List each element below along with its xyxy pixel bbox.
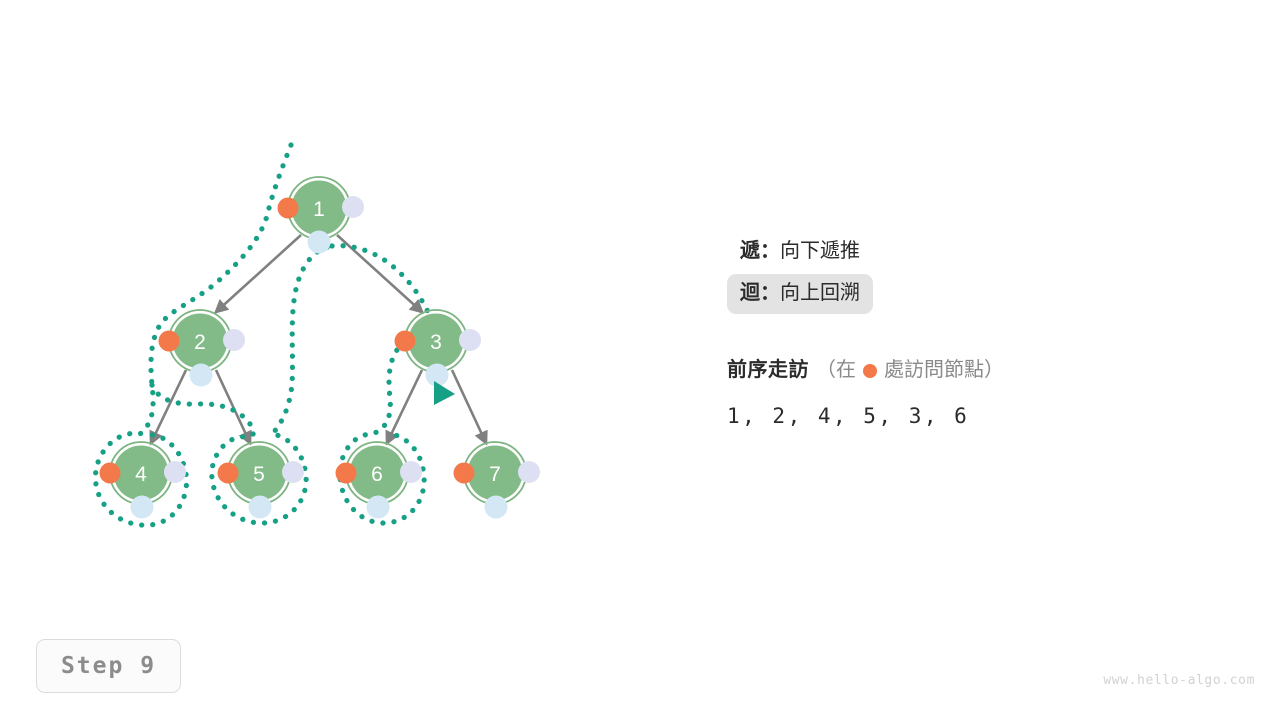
legend-row-recurse-wrap: 遞：向下遞推 — [727, 232, 1247, 274]
tree-node-6[interactable]: 6 — [336, 442, 423, 519]
node-7-post-dot — [485, 496, 508, 519]
traversal-paren-open: （在 — [816, 360, 856, 380]
node-1-label: 1 — [313, 198, 325, 221]
node-3-pre-dot — [395, 331, 416, 352]
node-2-post-dot — [190, 364, 213, 387]
node-4-in-dot — [164, 461, 186, 483]
node-5-pre-dot — [218, 463, 239, 484]
traversal-sequence: 1, 2, 4, 5, 3, 6 — [727, 404, 1247, 428]
legend-recurse-key: 遞： — [740, 240, 780, 262]
tree-node-1[interactable]: 1 — [278, 177, 365, 254]
node-1-in-dot — [342, 196, 364, 218]
node-5-label: 5 — [253, 463, 265, 486]
node-6-pre-dot — [336, 463, 357, 484]
node-4-label: 4 — [135, 463, 147, 486]
tree-node-5[interactable]: 5 — [218, 442, 305, 519]
edge-3-6 — [387, 370, 422, 443]
node-5-in-dot — [282, 461, 304, 483]
legend-backtrack-value: 向上回溯 — [780, 282, 860, 304]
node-6-in-dot — [400, 461, 422, 483]
node-6-label: 6 — [371, 463, 383, 486]
node-7-label: 7 — [489, 463, 501, 486]
node-4-post-dot — [131, 496, 154, 519]
legend-panel: 遞：向下遞推 迴：向上回溯 — [727, 232, 1247, 316]
step-badge: Step 9 — [36, 639, 181, 693]
node-2-label: 2 — [194, 331, 206, 354]
edge-2-4 — [151, 370, 186, 443]
tree-node-2[interactable]: 2 — [159, 310, 246, 387]
node-1-pre-dot — [278, 198, 299, 219]
tree-node-4[interactable]: 4 — [100, 442, 187, 519]
node-3-label: 3 — [430, 331, 442, 354]
legend-backtrack-key: 迴： — [740, 282, 780, 304]
node-3-in-dot — [459, 329, 481, 351]
node-1-post-dot — [308, 231, 331, 254]
preorder-marker-dot — [863, 364, 877, 378]
edge-3-7 — [452, 370, 486, 443]
node-6-post-dot — [367, 496, 390, 519]
node-7-in-dot — [518, 461, 540, 483]
legend-row-recurse: 遞：向下遞推 — [727, 232, 873, 272]
tree-svg: 1 2 3 — [0, 0, 660, 600]
site-watermark: www.hello-algo.com — [1103, 673, 1255, 688]
legend-row-backtrack-wrap: 迴：向上回溯 — [727, 274, 1247, 316]
step-badge-label: Step 9 — [61, 653, 156, 679]
current-position-pointer-icon — [434, 381, 455, 405]
node-2-in-dot — [223, 329, 245, 351]
node-4-pre-dot — [100, 463, 121, 484]
traversal-paren-close: 處訪問節點） — [884, 360, 1004, 380]
traversal-heading: 前序走訪 （在 處訪問節點） — [727, 360, 1247, 380]
tree-nodes: 1 2 3 — [100, 177, 541, 519]
tree-node-3[interactable]: 3 — [395, 310, 482, 387]
legend-recurse-value: 向下遞推 — [780, 240, 860, 262]
traversal-block: 前序走訪 （在 處訪問節點） 1, 2, 4, 5, 3, 6 — [727, 360, 1247, 428]
node-5-post-dot — [249, 496, 272, 519]
node-2-pre-dot — [159, 331, 180, 352]
traversal-title: 前序走訪 — [727, 360, 809, 380]
legend-row-backtrack: 迴：向上回溯 — [727, 274, 873, 314]
edge-1-3 — [337, 235, 422, 312]
node-7-pre-dot — [454, 463, 475, 484]
binary-tree-diagram: 1 2 3 — [0, 0, 660, 600]
tree-node-7[interactable]: 7 — [454, 442, 541, 519]
